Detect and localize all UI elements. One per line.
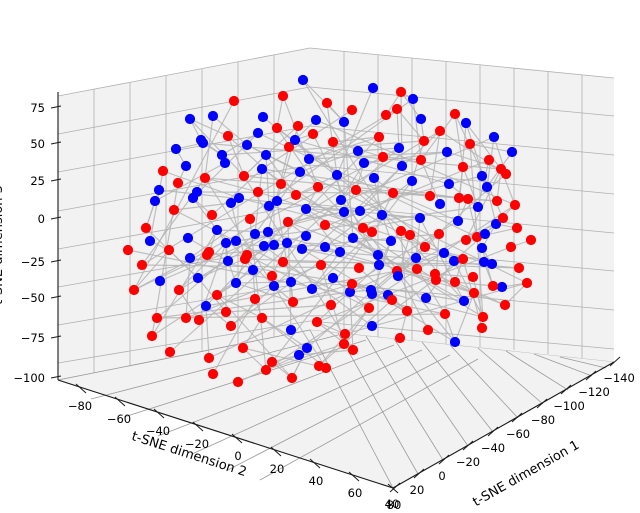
- scatter-point[interactable]: [316, 260, 326, 270]
- scatter-point[interactable]: [434, 229, 444, 239]
- y-tick-label-5: −60: [506, 427, 530, 441]
- scatter-point[interactable]: [421, 293, 431, 303]
- scatter-point[interactable]: [141, 223, 151, 233]
- scatter-point[interactable]: [347, 279, 357, 289]
- y-tick-label-1: 20: [410, 483, 425, 497]
- scatter-point[interactable]: [164, 245, 174, 255]
- scatter-point[interactable]: [415, 213, 425, 223]
- scatter-point[interactable]: [423, 325, 433, 335]
- scatter-point[interactable]: [392, 104, 402, 114]
- scatter-point[interactable]: [498, 213, 508, 223]
- scatter-point[interactable]: [378, 152, 388, 162]
- scatter-point[interactable]: [283, 217, 293, 227]
- scatter-point[interactable]: [497, 282, 507, 292]
- scatter-point[interactable]: [366, 285, 376, 295]
- scatter-point[interactable]: [374, 132, 384, 142]
- scatter-point[interactable]: [123, 245, 133, 255]
- scatter-point[interactable]: [367, 321, 377, 331]
- scatter-point[interactable]: [193, 273, 203, 283]
- scatter-point[interactable]: [293, 121, 303, 131]
- z-tick-label-1: 50: [30, 137, 45, 151]
- scatter-point[interactable]: [154, 185, 164, 195]
- y-tick-label-2: 0: [438, 469, 445, 483]
- scatter-point[interactable]: [291, 190, 301, 200]
- scatter-point[interactable]: [482, 182, 492, 192]
- scatter-point[interactable]: [286, 277, 296, 287]
- scatter-point[interactable]: [257, 313, 267, 323]
- scatter-point[interactable]: [234, 193, 244, 203]
- scatter-point[interactable]: [301, 231, 311, 241]
- scatter-point[interactable]: [393, 271, 403, 281]
- scatter-point[interactable]: [328, 137, 338, 147]
- scatter-point[interactable]: [469, 288, 479, 298]
- scatter-point[interactable]: [358, 223, 368, 233]
- scatter-point[interactable]: [258, 112, 268, 122]
- scatter-point[interactable]: [408, 94, 418, 104]
- scatter-point[interactable]: [169, 205, 179, 215]
- z-tick-label-6: −75: [21, 331, 45, 345]
- scatter-point[interactable]: [463, 194, 473, 204]
- scatter-point[interactable]: [194, 315, 204, 325]
- scatter-point[interactable]: [449, 256, 459, 266]
- scatter-point[interactable]: [208, 369, 218, 379]
- scatter-point[interactable]: [489, 132, 499, 142]
- scatter-point[interactable]: [336, 195, 346, 205]
- scatter-point[interactable]: [231, 278, 241, 288]
- scatter-point[interactable]: [226, 321, 236, 331]
- y-tick-label-7: −100: [553, 399, 585, 413]
- scatter-point[interactable]: [488, 281, 498, 291]
- scatter-point[interactable]: [507, 147, 517, 157]
- scatter-point[interactable]: [484, 155, 494, 165]
- scatter-point[interactable]: [223, 131, 233, 141]
- scatter-point[interactable]: [250, 294, 260, 304]
- scatter-point[interactable]: [286, 325, 296, 335]
- scatter-point[interactable]: [312, 317, 322, 327]
- scatter-point[interactable]: [276, 179, 286, 189]
- scatter-point[interactable]: [444, 179, 454, 189]
- scatter-point[interactable]: [198, 138, 208, 148]
- scatter-point[interactable]: [425, 191, 435, 201]
- scatter-point[interactable]: [269, 281, 279, 291]
- scatter-point[interactable]: [308, 129, 318, 139]
- scatter-point[interactable]: [248, 265, 258, 275]
- scatter-point[interactable]: [477, 171, 487, 181]
- scatter-point[interactable]: [204, 247, 214, 257]
- scatter-point[interactable]: [201, 301, 211, 311]
- scatter-point[interactable]: [420, 242, 430, 252]
- scatter-point[interactable]: [405, 230, 415, 240]
- scatter-point[interactable]: [359, 158, 369, 168]
- scatter-point[interactable]: [439, 248, 449, 258]
- scatter-point[interactable]: [480, 229, 490, 239]
- scatter-point[interactable]: [395, 333, 405, 343]
- figure-canvas: 75 50 25 0 −25 −50 −75 −100 t-SNE dimens…: [0, 0, 640, 513]
- scatter-point[interactable]: [253, 128, 263, 138]
- scatter-point[interactable]: [416, 114, 426, 124]
- scatter-point[interactable]: [301, 204, 311, 214]
- scatter-point[interactable]: [302, 343, 312, 353]
- scatter-point[interactable]: [233, 377, 243, 387]
- scatter-point[interactable]: [450, 109, 460, 119]
- scatter-point[interactable]: [435, 199, 445, 209]
- y-tick-label-0: 40: [385, 497, 400, 511]
- scatter-point[interactable]: [492, 196, 502, 206]
- scatter-point[interactable]: [479, 257, 489, 267]
- scatter-point[interactable]: [354, 263, 364, 273]
- scatter-point[interactable]: [339, 339, 349, 349]
- scatter-point[interactable]: [435, 126, 445, 136]
- scatter-point[interactable]: [263, 227, 273, 237]
- scatter-point[interactable]: [454, 193, 464, 203]
- scatter-point[interactable]: [287, 373, 297, 383]
- scatter-point[interactable]: [253, 187, 263, 197]
- scatter-point[interactable]: [394, 143, 404, 153]
- scatter-point[interactable]: [347, 105, 357, 115]
- scatter-point[interactable]: [204, 353, 214, 363]
- scatter-point[interactable]: [351, 185, 361, 195]
- scatter-point[interactable]: [295, 167, 305, 177]
- z-tick-label-2: 25: [30, 174, 45, 188]
- scatter-point[interactable]: [458, 162, 468, 172]
- scatter-point[interactable]: [290, 135, 300, 145]
- scatter-point[interactable]: [473, 202, 483, 212]
- scatter-point[interactable]: [355, 206, 365, 216]
- y-tick-label-3: −20: [456, 455, 480, 469]
- x-tick-label-5: 20: [270, 462, 285, 476]
- z-axis-title: t-SNE dimension 3: [0, 185, 6, 305]
- scatter-point[interactable]: [165, 347, 175, 357]
- x-tick-label-6: 40: [309, 474, 324, 488]
- scatter-point[interactable]: [381, 110, 391, 120]
- scatter-point[interactable]: [328, 273, 338, 283]
- scatter-point[interactable]: [171, 144, 181, 154]
- scatter-point[interactable]: [506, 242, 516, 252]
- scatter-point[interactable]: [183, 233, 193, 243]
- scatter-point[interactable]: [267, 271, 277, 281]
- scatter-point[interactable]: [450, 277, 460, 287]
- scatter-point[interactable]: [181, 161, 191, 171]
- scatter-point[interactable]: [129, 285, 139, 295]
- scatter-point[interactable]: [185, 253, 195, 263]
- scatter-point[interactable]: [212, 290, 222, 300]
- scatter-point[interactable]: [150, 196, 160, 206]
- scatter-point[interactable]: [332, 170, 342, 180]
- scatter-point[interactable]: [272, 196, 282, 206]
- scatter-point[interactable]: [261, 365, 271, 375]
- z-tick-label-5: −50: [21, 291, 45, 305]
- y-tick-label-9: −140: [603, 371, 635, 385]
- scatter-point[interactable]: [152, 313, 162, 323]
- scatter-point[interactable]: [374, 260, 384, 270]
- scatter-point[interactable]: [185, 114, 195, 124]
- scatter-point[interactable]: [212, 225, 222, 235]
- scatter-point[interactable]: [221, 307, 231, 317]
- scatter-point[interactable]: [465, 139, 475, 149]
- scatter-point[interactable]: [288, 297, 298, 307]
- scatter-point[interactable]: [320, 242, 330, 252]
- scatter-point[interactable]: [419, 136, 429, 146]
- scatter-point[interactable]: [278, 257, 288, 267]
- scatter-point[interactable]: [364, 303, 374, 313]
- scatter-point[interactable]: [453, 216, 463, 226]
- scatter-point[interactable]: [238, 343, 248, 353]
- scatter-point[interactable]: [297, 244, 307, 254]
- x-tick-label-0: −80: [68, 399, 92, 413]
- scatter-point[interactable]: [311, 115, 321, 125]
- scatter-point[interactable]: [335, 247, 345, 257]
- scatter-point[interactable]: [407, 176, 417, 186]
- scatter-point[interactable]: [477, 323, 487, 333]
- scatter-point[interactable]: [257, 164, 267, 174]
- scatter-point[interactable]: [387, 295, 397, 305]
- scatter-point[interactable]: [450, 337, 460, 347]
- scatter3d-plot[interactable]: 75 50 25 0 −25 −50 −75 −100 t-SNE dimens…: [0, 0, 640, 513]
- scatter-point[interactable]: [468, 272, 478, 282]
- z-tick-label-0: 75: [30, 101, 45, 115]
- scatter-point[interactable]: [431, 275, 441, 285]
- scatter-point[interactable]: [239, 171, 249, 181]
- scatter-point[interactable]: [221, 238, 231, 248]
- scatter-point[interactable]: [155, 276, 165, 286]
- z-tick-label-7: −100: [13, 371, 45, 385]
- scatter-point[interactable]: [173, 178, 183, 188]
- scatter-point[interactable]: [339, 207, 349, 217]
- y-tick-label-4: −40: [481, 441, 505, 455]
- scatter-point[interactable]: [207, 210, 217, 220]
- scatter-point[interactable]: [348, 233, 358, 243]
- scatter-point[interactable]: [510, 200, 520, 210]
- scatter-point[interactable]: [377, 210, 387, 220]
- scatter-point[interactable]: [250, 229, 260, 239]
- scatter-point[interactable]: [245, 214, 255, 224]
- scatter-point[interactable]: [496, 164, 506, 174]
- z-tick-label-3: 0: [38, 212, 45, 226]
- scatter-point[interactable]: [416, 155, 426, 165]
- scatter-point[interactable]: [272, 123, 282, 133]
- scatter-point[interactable]: [242, 250, 252, 260]
- scatter-point[interactable]: [158, 166, 168, 176]
- scatter-point[interactable]: [242, 140, 252, 150]
- scatter-point[interactable]: [459, 296, 469, 306]
- scatter-point[interactable]: [373, 250, 383, 260]
- scatter-point[interactable]: [192, 187, 202, 197]
- scatter-point[interactable]: [322, 98, 332, 108]
- scatter-point[interactable]: [307, 284, 317, 294]
- scatter-point[interactable]: [386, 236, 396, 246]
- scatter-point[interactable]: [514, 263, 524, 273]
- scatter-point[interactable]: [147, 331, 157, 341]
- scatter-point[interactable]: [412, 264, 422, 274]
- scatter-point[interactable]: [278, 91, 288, 101]
- scatter-point[interactable]: [200, 173, 210, 183]
- scatter-point[interactable]: [368, 83, 378, 93]
- scatter-point[interactable]: [326, 300, 336, 310]
- scatter-point[interactable]: [388, 188, 398, 198]
- scatter-point[interactable]: [304, 154, 314, 164]
- scatter-point[interactable]: [411, 253, 421, 263]
- scatter-point[interactable]: [526, 235, 536, 245]
- scatter-point[interactable]: [320, 220, 330, 230]
- scatter-point[interactable]: [478, 312, 488, 322]
- scatter-point[interactable]: [229, 96, 239, 106]
- scatter-point[interactable]: [369, 173, 379, 183]
- scatter-point[interactable]: [397, 161, 407, 171]
- scatter-point[interactable]: [512, 223, 522, 233]
- z-tick-label-4: −25: [21, 255, 45, 269]
- scatter-point[interactable]: [314, 361, 324, 371]
- scatter-point[interactable]: [298, 75, 308, 85]
- scatter-point[interactable]: [217, 150, 227, 160]
- scatter-point[interactable]: [294, 350, 304, 360]
- scatter-point[interactable]: [440, 309, 450, 319]
- x-tick-label-7: 60: [348, 486, 363, 500]
- scatter-point[interactable]: [396, 87, 406, 97]
- y-tick-label-8: −120: [578, 385, 610, 399]
- scatter-point[interactable]: [396, 226, 406, 236]
- scatter-point[interactable]: [348, 345, 358, 355]
- x-tick-label-1: −60: [107, 412, 131, 426]
- scatter-point[interactable]: [339, 117, 349, 127]
- scatter-point[interactable]: [461, 118, 471, 128]
- scatter-point[interactable]: [269, 240, 279, 250]
- scatter-point[interactable]: [208, 111, 218, 121]
- scatter-point[interactable]: [367, 227, 377, 237]
- scatter-point[interactable]: [500, 300, 510, 310]
- scatter-point[interactable]: [137, 260, 147, 270]
- scatter-point[interactable]: [261, 150, 271, 160]
- scatter-point[interactable]: [231, 236, 241, 246]
- scatter-point[interactable]: [340, 329, 350, 339]
- scatter-point[interactable]: [181, 313, 191, 323]
- y-tick-label-6: −80: [531, 413, 555, 427]
- scatter-point[interactable]: [458, 254, 468, 264]
- scatter-point[interactable]: [174, 285, 184, 295]
- scatter-point[interactable]: [461, 235, 471, 245]
- scatter-point[interactable]: [522, 278, 532, 288]
- scatter-point[interactable]: [402, 306, 412, 316]
- scatter-point[interactable]: [223, 256, 233, 266]
- z-axis-ticks: 75 50 25 0 −25 −50 −75 −100: [13, 101, 61, 385]
- scatter-point[interactable]: [259, 241, 269, 251]
- scatter-point[interactable]: [282, 238, 292, 248]
- scatter-point[interactable]: [313, 182, 323, 192]
- scatter-point[interactable]: [442, 147, 452, 157]
- scatter-point[interactable]: [353, 146, 363, 156]
- scatter-point[interactable]: [477, 243, 487, 253]
- scatter-point[interactable]: [145, 236, 155, 246]
